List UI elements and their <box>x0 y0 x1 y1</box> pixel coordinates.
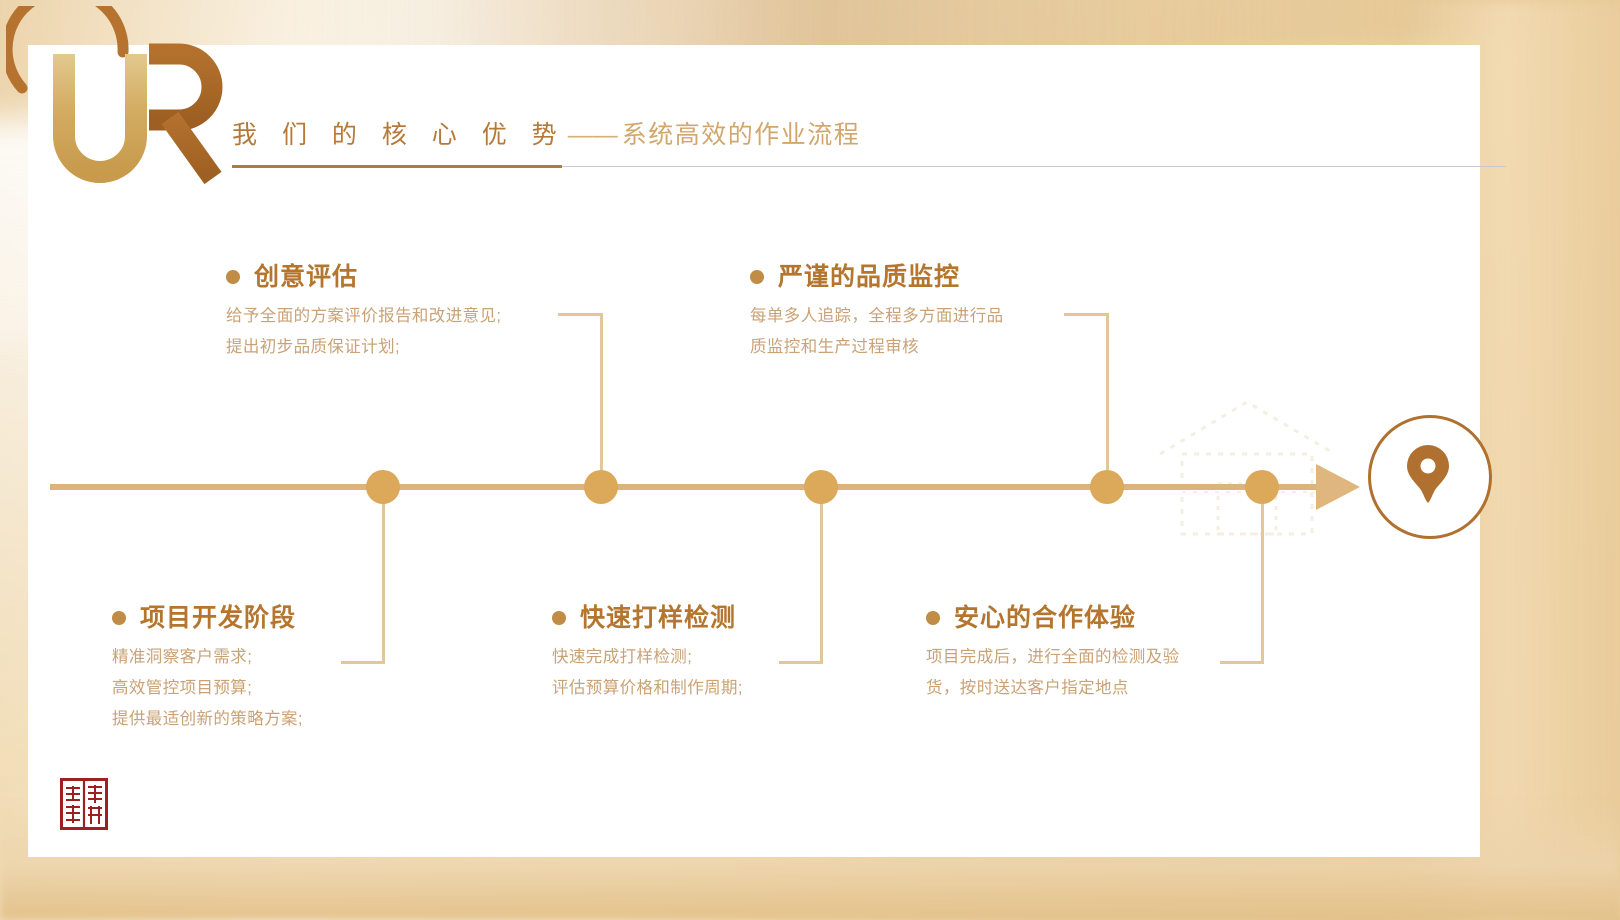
step-block-creative-evaluation: 创意评估 给予全面的方案评价报告和改进意见; 提出初步品质保证计划; <box>226 262 501 363</box>
step-title: 安心的合作体验 <box>954 603 1136 633</box>
step-block-project-development: 项目开发阶段 精准洞察客户需求; 高效管控项目预算; 提供最适创新的策略方案; <box>112 603 303 735</box>
step-line: 评估预算价格和制作周期; <box>552 673 743 704</box>
step-line: 精准洞察客户需求; <box>112 642 303 673</box>
connector-node-4-horizontal <box>1064 313 1109 316</box>
bullet-icon <box>552 611 566 625</box>
connector-node-5-horizontal <box>1220 661 1264 664</box>
connector-node-2-vertical <box>600 313 603 475</box>
connector-node-5-vertical <box>1261 500 1264 663</box>
location-pin-icon <box>1404 443 1452 505</box>
page-title: 我 们 的 核 心 优 势——系统高效的作业流程 <box>232 118 860 152</box>
step-heading: 项目开发阶段 <box>112 603 303 633</box>
title-underline-light <box>562 166 1506 167</box>
connector-node-2-horizontal <box>558 313 603 316</box>
step-title: 严谨的品质监控 <box>778 262 960 292</box>
page-title-dash: —— <box>566 121 622 149</box>
step-line: 货，按时送达客户指定地点 <box>926 673 1180 704</box>
title-underline-accent <box>232 165 562 168</box>
timeline-node-2[interactable] <box>584 470 618 504</box>
slide-canvas: 我 们 的 核 心 优 势——系统高效的作业流程 <box>0 0 1620 920</box>
step-line: 提出初步品质保证计划; <box>226 332 501 363</box>
timeline-axis <box>50 484 1333 490</box>
connector-node-1-vertical <box>382 500 385 663</box>
step-title: 快速打样检测 <box>580 603 736 633</box>
bullet-icon <box>926 611 940 625</box>
timeline-node-4[interactable] <box>1090 470 1124 504</box>
timeline-node-3[interactable] <box>804 470 838 504</box>
step-line: 项目完成后，进行全面的检测及验 <box>926 642 1180 673</box>
step-line: 快速完成打样检测; <box>552 642 743 673</box>
step-line: 每单多人追踪，全程多方面进行品 <box>750 301 1004 332</box>
page-title-sub: 系统高效的作业流程 <box>622 121 861 149</box>
step-title: 创意评估 <box>254 262 358 292</box>
step-heading: 严谨的品质监控 <box>750 262 1004 292</box>
bullet-icon <box>226 270 240 284</box>
page-title-main: 我 们 的 核 心 优 势 <box>232 121 566 149</box>
red-seal-stamp <box>60 778 108 830</box>
timeline-node-5[interactable] <box>1245 470 1279 504</box>
page-header: 我 们 的 核 心 优 势——系统高效的作业流程 <box>232 118 1507 178</box>
step-line: 质监控和生产过程审核 <box>750 332 1004 363</box>
bullet-icon <box>750 270 764 284</box>
connector-node-3-horizontal <box>779 661 823 664</box>
step-block-rapid-sampling: 快速打样检测 快速完成打样检测; 评估预算价格和制作周期; <box>552 603 743 704</box>
bullet-icon <box>112 611 126 625</box>
step-block-quality-control: 严谨的品质监控 每单多人追踪，全程多方面进行品 质监控和生产过程审核 <box>750 262 1004 363</box>
step-block-cooperation-experience: 安心的合作体验 项目完成后，进行全面的检测及验 货，按时送达客户指定地点 <box>926 603 1180 704</box>
connector-node-4-vertical <box>1106 313 1109 475</box>
step-line: 给予全面的方案评价报告和改进意见; <box>226 301 501 332</box>
step-heading: 安心的合作体验 <box>926 603 1180 633</box>
step-line: 高效管控项目预算; <box>112 673 303 704</box>
connector-node-3-vertical <box>820 500 823 663</box>
step-title: 项目开发阶段 <box>140 603 296 633</box>
step-line: 提供最适创新的策略方案; <box>112 704 303 735</box>
connector-node-1-horizontal <box>341 661 385 664</box>
step-heading: 创意评估 <box>226 262 501 292</box>
step-heading: 快速打样检测 <box>552 603 743 633</box>
arrow-right-icon <box>1316 464 1360 510</box>
timeline-node-1[interactable] <box>366 470 400 504</box>
